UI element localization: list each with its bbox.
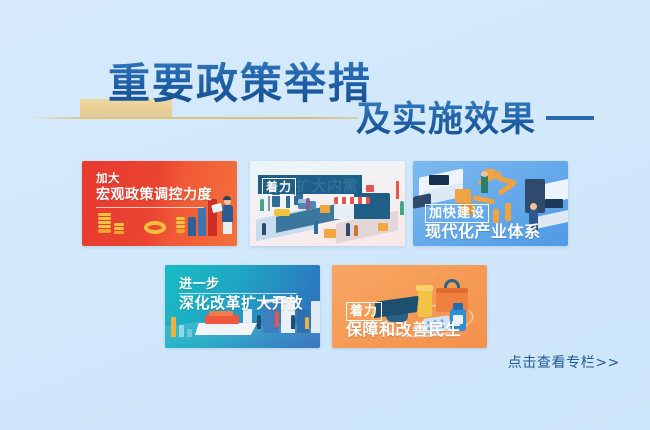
ring-coin-icon — [144, 221, 166, 234]
chart-bar — [179, 325, 184, 337]
page-title-line1: 重要政策举措 — [108, 60, 372, 108]
chart-bar — [187, 329, 192, 337]
street-pole — [396, 181, 399, 199]
card-label-top: 着力 — [262, 177, 296, 196]
page-title-line2: 及实施效果 — [356, 100, 536, 140]
gold-bar-top — [416, 285, 433, 291]
card-label-main: 宏观政策调控力度 — [96, 187, 212, 204]
coin-icon — [98, 221, 111, 224]
coin-icon — [176, 229, 185, 233]
title-blue-dash — [546, 116, 594, 120]
coin-icon — [176, 221, 185, 224]
coin-icon — [98, 225, 111, 228]
coin-icon — [114, 223, 124, 226]
machine-screen — [545, 199, 563, 208]
card-improve-livelihood[interactable]: 着力 保障和改善民生 — [332, 265, 487, 348]
person-hair — [223, 196, 231, 200]
person-figure — [400, 201, 404, 215]
coin-icon — [114, 227, 124, 230]
bar-chart-bar — [188, 217, 196, 236]
worker-figure — [481, 175, 488, 193]
ship-hull — [195, 323, 257, 335]
person-figure — [346, 223, 350, 236]
bag-trim — [436, 288, 468, 293]
machine-screen — [429, 175, 449, 185]
parcel-box — [378, 223, 388, 231]
coin-icon — [176, 217, 185, 220]
person-figure — [354, 225, 358, 236]
card-label-top-text: 着力 — [262, 178, 296, 196]
person-figure — [306, 198, 310, 210]
card-label-top: 进一步 — [179, 277, 220, 292]
person-figure — [305, 317, 309, 329]
card-expand-domestic-demand[interactable]: 着力 扩大内需 — [250, 161, 405, 246]
card-modern-industrial-system[interactable]: 加快建设 现代化产业体系 — [413, 161, 568, 246]
person-figure — [286, 195, 290, 208]
robot-arm-post — [505, 203, 511, 221]
card-label-top-text: 着力 — [346, 302, 382, 321]
coin-icon — [98, 229, 111, 233]
card-label-top: 加大 — [96, 172, 120, 186]
card-deepen-reform-opening[interactable]: 进一步 深化改革扩大开放 — [165, 265, 320, 348]
view-column-link[interactable]: 点击查看专栏>> — [508, 352, 620, 372]
person-figure — [291, 315, 295, 329]
card-label-main: 扩大内需 — [296, 178, 358, 196]
card-label-rule — [96, 207, 204, 208]
bar-chart-bar — [198, 207, 206, 236]
medicine-bottle-cap — [453, 303, 463, 310]
coin-icon — [114, 231, 124, 234]
banner-root: 重要政策举措 及实施效果 加大 宏观政策调控力度 — [0, 0, 650, 430]
stall — [334, 204, 354, 219]
card-label-top: 加快建设 — [425, 203, 489, 223]
worker-head — [481, 171, 488, 177]
card-label-top: 着力 — [346, 301, 382, 321]
card-label-main: 现代化产业体系 — [425, 223, 541, 242]
person-figure — [262, 223, 266, 235]
cargo-box — [455, 189, 471, 203]
robot-arm-post — [493, 209, 499, 223]
coin-icon — [98, 213, 111, 216]
card-label-main: 保障和改善民生 — [346, 321, 462, 340]
ship-cargo — [205, 315, 239, 324]
card-label-rule — [179, 293, 297, 294]
person-legs — [223, 221, 232, 234]
coin-icon — [176, 225, 185, 228]
person-figure — [314, 221, 318, 234]
building — [311, 301, 320, 333]
street-pole — [268, 195, 270, 211]
parcel-box — [320, 205, 330, 213]
car-icon — [274, 209, 290, 216]
person-figure — [275, 311, 279, 327]
gold-bar — [418, 289, 432, 317]
chart-bar — [171, 317, 176, 337]
person-figure — [257, 315, 261, 329]
card-macro-policy[interactable]: 加大 宏观政策调控力度 — [82, 161, 237, 246]
person-figure — [260, 199, 264, 211]
awning — [334, 197, 370, 204]
coin-icon — [98, 217, 111, 220]
parcel-box — [324, 229, 336, 238]
card-label-main: 深化改革扩大开放 — [179, 295, 303, 313]
card-label-top-text: 加快建设 — [425, 204, 489, 223]
parcel-box — [366, 185, 374, 192]
title-gold-rule — [28, 117, 358, 119]
worker-head — [530, 203, 537, 210]
